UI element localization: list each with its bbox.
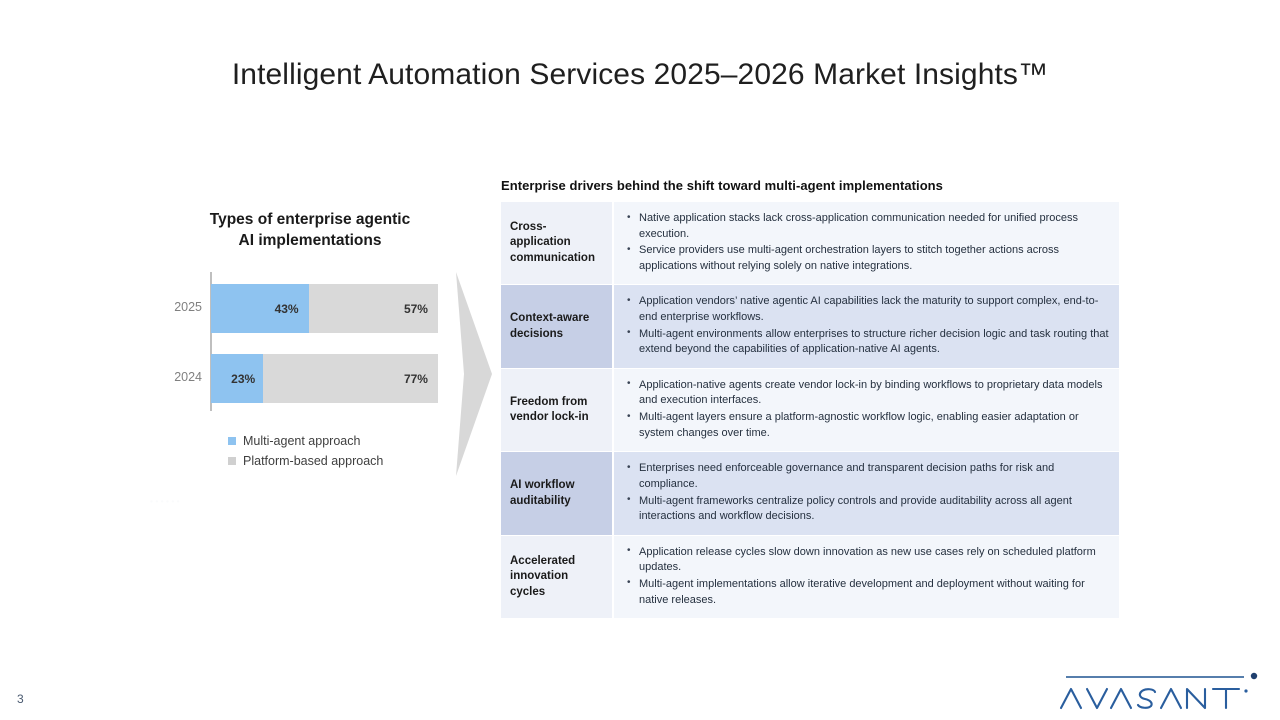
table-row-body: Application vendors’ native agentic AI c…	[613, 285, 1119, 368]
bullet-list: Native application stacks lack cross-app…	[626, 211, 1109, 274]
chart-title-line-2: AI implementations	[160, 231, 460, 252]
page-number: 3	[17, 692, 24, 706]
enterprise-drivers-table: Cross-application communication Native a…	[501, 201, 1119, 619]
agentic-implementations-chart: Types of enterprise agentic AI implement…	[150, 210, 480, 500]
enterprise-drivers-section: Enterprise drivers behind the shift towa…	[501, 178, 1121, 619]
bullet-list: Enterprises need enforceable governance …	[626, 461, 1109, 524]
legend-label-platform-based: Platform-based approach	[243, 454, 383, 468]
list-item: Application-native agents create vendor …	[626, 378, 1109, 409]
chart-title-line-1: Types of enterprise agentic	[160, 210, 460, 231]
chart-bar-segment-multi-agent-2024[interactable]: 23%	[211, 354, 263, 403]
chart-faint-note: • • • • • •	[150, 496, 460, 506]
chart-title: Types of enterprise agentic AI implement…	[160, 210, 460, 251]
table-row: AI workflow auditability Enterprises nee…	[501, 452, 1119, 535]
table-row-body: Application-native agents create vendor …	[613, 368, 1119, 451]
table-row-body: Native application stacks lack cross-app…	[613, 202, 1119, 285]
table-row-label: Cross-application communication	[501, 202, 613, 285]
table-row-label: Freedom from vendor lock-in	[501, 368, 613, 451]
table-row-label: Context-aware decisions	[501, 285, 613, 368]
table-row-body: Application release cycles slow down inn…	[613, 535, 1119, 618]
chart-bar-value-multi-agent-2025: 43%	[275, 302, 299, 316]
list-item: Multi-agent frameworks centralize policy…	[626, 494, 1109, 525]
table-heading: Enterprise drivers behind the shift towa…	[501, 178, 1121, 193]
table-row-label: Accelerated innovation cycles	[501, 535, 613, 618]
table-row-label: AI workflow auditability	[501, 452, 613, 535]
legend-swatch-icon-multi-agent	[228, 437, 236, 445]
chart-bar-row-2024: 23% 77%	[211, 354, 438, 403]
chart-bar-segment-platform-2025[interactable]: 57%	[309, 284, 438, 333]
chart-bar-row-2025: 43% 57%	[211, 284, 438, 333]
legend-swatch-icon-platform-based	[228, 457, 236, 465]
table-row: Context-aware decisions Application vend…	[501, 285, 1119, 368]
page-title: Intelligent Automation Services 2025–202…	[0, 58, 1280, 92]
list-item: Multi-agent environments allow enterpris…	[626, 327, 1109, 358]
legend-item-multi-agent[interactable]: Multi-agent approach	[228, 434, 478, 448]
chart-bar-value-multi-agent-2024: 23%	[231, 372, 255, 386]
list-item: Service providers use multi-agent orches…	[626, 243, 1109, 274]
legend-item-platform-based[interactable]: Platform-based approach	[228, 454, 478, 468]
bullet-list: Application vendors’ native agentic AI c…	[626, 294, 1109, 357]
list-item: Native application stacks lack cross-app…	[626, 211, 1109, 242]
list-item: Multi-agent implementations allow iterat…	[626, 577, 1109, 608]
avasant-logo-icon	[1058, 668, 1268, 712]
list-item: Application vendors’ native agentic AI c…	[626, 294, 1109, 325]
legend-label-multi-agent: Multi-agent approach	[243, 434, 360, 448]
chart-category-label-2025: 2025	[150, 300, 202, 314]
chart-bar-value-platform-2024: 77%	[404, 372, 428, 386]
list-item: Multi-agent layers ensure a platform-agn…	[626, 410, 1109, 441]
table-row: Freedom from vendor lock-in Application-…	[501, 368, 1119, 451]
list-item: Application release cycles slow down inn…	[626, 545, 1109, 576]
right-chevron-arrow-icon	[452, 272, 496, 476]
table-row: Accelerated innovation cycles Applicatio…	[501, 535, 1119, 618]
chart-category-label-2024: 2024	[150, 370, 202, 384]
bullet-list: Application release cycles slow down inn…	[626, 545, 1109, 608]
list-item: Enterprises need enforceable governance …	[626, 461, 1109, 492]
chart-bar-segment-multi-agent-2025[interactable]: 43%	[211, 284, 309, 333]
table-row: Cross-application communication Native a…	[501, 202, 1119, 285]
table-row-body: Enterprises need enforceable governance …	[613, 452, 1119, 535]
chart-bar-segment-platform-2024[interactable]: 77%	[263, 354, 438, 403]
chart-legend: Multi-agent approach Platform-based appr…	[228, 434, 478, 474]
bullet-list: Application-native agents create vendor …	[626, 378, 1109, 441]
chart-bar-value-platform-2025: 57%	[404, 302, 428, 316]
chart-plot-area: 2025 43% 57% 2024 23% 77%	[150, 272, 480, 417]
